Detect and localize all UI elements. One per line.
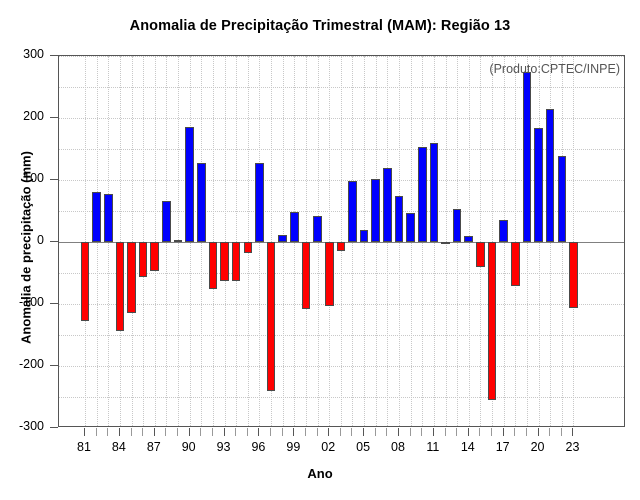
x-tick-mark-minor <box>305 428 306 436</box>
gridline-vertical <box>85 56 86 426</box>
bar-21 <box>546 109 555 242</box>
x-tick-mark <box>433 428 434 436</box>
bar-19 <box>523 72 532 243</box>
y-tick-mark <box>50 303 58 304</box>
x-tick-mark <box>293 428 294 436</box>
bar-13 <box>453 209 462 242</box>
bar-96 <box>255 163 264 242</box>
bar-10 <box>418 147 427 242</box>
gridline-vertical <box>236 56 237 426</box>
bar-98 <box>278 235 287 242</box>
bar-20 <box>534 128 543 242</box>
y-tick-label: -200 <box>0 357 44 371</box>
bar-23 <box>569 242 578 308</box>
bar-18 <box>511 242 520 286</box>
x-tick-mark-minor <box>526 428 527 436</box>
x-tick-mark-minor <box>247 428 248 436</box>
bar-09 <box>406 213 415 242</box>
bar-14 <box>464 236 473 242</box>
source-annotation: (Produto:CPTEC/INPE) <box>489 62 620 76</box>
x-tick-mark <box>538 428 539 436</box>
gridline-vertical <box>306 56 307 426</box>
gridline-vertical <box>213 56 214 426</box>
x-tick-mark <box>224 428 225 436</box>
bar-04 <box>348 181 357 242</box>
gridline-vertical <box>225 56 226 426</box>
bar-91 <box>197 163 206 242</box>
x-tick-mark-minor <box>445 428 446 436</box>
bar-06 <box>371 179 380 242</box>
x-tick-mark-minor <box>282 428 283 436</box>
bar-83 <box>104 194 113 242</box>
y-tick-label: 300 <box>0 47 44 61</box>
bar-22 <box>558 156 567 242</box>
y-tick-mark <box>50 427 58 428</box>
x-tick-mark-minor <box>561 428 562 436</box>
gridline-vertical <box>132 56 133 426</box>
x-tick-mark-minor <box>340 428 341 436</box>
gridline-vertical <box>120 56 121 426</box>
y-tick-label: -100 <box>0 295 44 309</box>
bar-00 <box>302 242 311 309</box>
x-tick-mark-minor <box>456 428 457 436</box>
bar-82 <box>92 192 101 242</box>
gridline-vertical <box>573 56 574 426</box>
bar-90 <box>185 127 194 242</box>
bar-89 <box>174 240 183 242</box>
bar-02 <box>325 242 334 306</box>
x-tick-mark-minor <box>177 428 178 436</box>
y-tick-label: 200 <box>0 109 44 123</box>
x-tick-mark <box>154 428 155 436</box>
gridline-vertical <box>341 56 342 426</box>
bar-03 <box>337 242 346 251</box>
x-tick-mark-minor <box>317 428 318 436</box>
bar-16 <box>488 242 497 400</box>
gridline-vertical <box>515 56 516 426</box>
bar-85 <box>127 242 136 313</box>
y-tick-label: -300 <box>0 419 44 433</box>
x-tick-mark <box>119 428 120 436</box>
gridline-vertical <box>155 56 156 426</box>
x-tick-mark <box>398 428 399 436</box>
bar-86 <box>139 242 148 277</box>
x-tick-mark-minor <box>491 428 492 436</box>
y-tick-mark <box>50 241 58 242</box>
page-title: Anomalia de Precipitação Trimestral (MAM… <box>0 18 640 34</box>
x-tick-mark-minor <box>200 428 201 436</box>
x-tick-mark-minor <box>421 428 422 436</box>
x-tick-mark-minor <box>212 428 213 436</box>
x-tick-mark-minor <box>479 428 480 436</box>
x-tick-mark-minor <box>107 428 108 436</box>
x-tick-mark <box>328 428 329 436</box>
plot-area: (Produto:CPTEC/INPE) <box>58 55 625 427</box>
x-axis-label: Ano <box>0 466 640 481</box>
bar-87 <box>150 242 159 271</box>
bar-93 <box>220 242 229 281</box>
bar-17 <box>499 220 508 242</box>
x-tick-mark <box>503 428 504 436</box>
x-tick-mark-minor <box>96 428 97 436</box>
bar-07 <box>383 168 392 242</box>
x-tick-mark <box>572 428 573 436</box>
bar-97 <box>267 242 276 391</box>
bar-11 <box>430 143 439 242</box>
gridline-vertical <box>446 56 447 426</box>
y-tick-mark <box>50 179 58 180</box>
x-tick-mark-minor <box>549 428 550 436</box>
gridline-vertical <box>329 56 330 426</box>
bar-99 <box>290 212 299 242</box>
x-tick-mark-minor <box>270 428 271 436</box>
bar-92 <box>209 242 218 289</box>
x-tick-mark-minor <box>514 428 515 436</box>
y-tick-label: 100 <box>0 171 44 185</box>
bar-95 <box>244 242 253 253</box>
x-tick-mark-minor <box>165 428 166 436</box>
x-tick-mark-minor <box>131 428 132 436</box>
gridline-vertical <box>143 56 144 426</box>
x-tick-mark-minor <box>386 428 387 436</box>
bar-12 <box>441 242 450 244</box>
x-tick-mark-minor <box>235 428 236 436</box>
bar-05 <box>360 230 369 242</box>
x-tick-mark-minor <box>142 428 143 436</box>
chart-root: Anomalia de Precipitação Trimestral (MAM… <box>0 0 640 500</box>
x-tick-mark-minor <box>375 428 376 436</box>
x-tick-mark-minor <box>410 428 411 436</box>
bar-94 <box>232 242 241 281</box>
y-tick-mark <box>50 117 58 118</box>
x-tick-label: 23 <box>552 440 592 454</box>
bar-08 <box>395 196 404 243</box>
x-tick-mark <box>189 428 190 436</box>
bar-01 <box>313 216 322 242</box>
x-tick-mark <box>363 428 364 436</box>
y-tick-mark <box>50 365 58 366</box>
x-tick-mark <box>258 428 259 436</box>
y-tick-label: 0 <box>0 233 44 247</box>
x-tick-mark <box>84 428 85 436</box>
x-tick-mark <box>468 428 469 436</box>
y-tick-mark <box>50 55 58 56</box>
bar-15 <box>476 242 485 267</box>
bar-84 <box>116 242 125 331</box>
gridline-vertical <box>480 56 481 426</box>
bar-88 <box>162 201 171 242</box>
bar-81 <box>81 242 90 321</box>
x-tick-mark-minor <box>351 428 352 436</box>
gridline-vertical <box>248 56 249 426</box>
